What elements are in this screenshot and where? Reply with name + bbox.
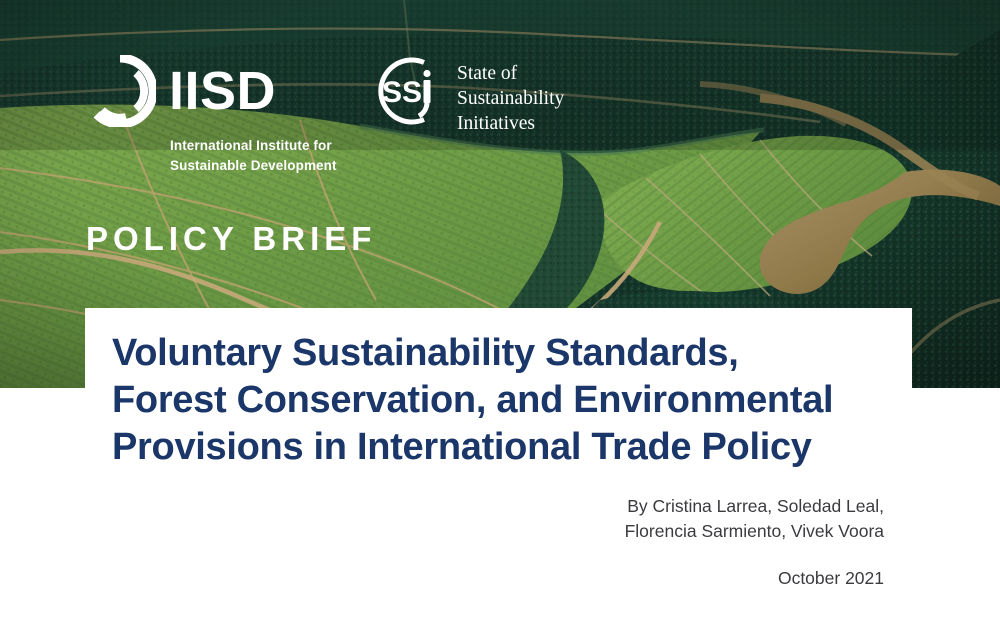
iisd-tagline-line-1: International Institute for [170, 136, 350, 156]
document-kicker: POLICY BRIEF [86, 222, 376, 255]
ssi-circle-mark-icon: SS [372, 54, 446, 128]
byline-line-2: Florencia Sarmiento, Vivek Voora [625, 519, 884, 544]
ssi-name-line-3: Initiatives [457, 112, 564, 137]
byline-block: By Cristina Larrea, Soledad Leal, Floren… [625, 494, 884, 591]
publication-date: October 2021 [625, 566, 884, 591]
ssi-logo: SS State of Sustainability Initiatives [372, 55, 564, 137]
iisd-logo-top: IISD [84, 55, 344, 127]
ssi-name-line-1: State of [457, 62, 564, 87]
svg-text:SS: SS [382, 76, 422, 109]
page-title-line-1: Voluntary Sustainability Standards, [112, 330, 912, 377]
iisd-circle-mark-icon [84, 55, 156, 127]
byline-line-1: By Cristina Larrea, Soledad Leal, [625, 494, 884, 519]
page-title: Voluntary Sustainability Standards, Fore… [112, 330, 912, 471]
policy-brief-cover-page: IISD International Institute for Sustain… [0, 0, 1000, 620]
page-title-line-2: Forest Conservation, and Environmental [112, 377, 912, 424]
iisd-wordmark: IISD [169, 64, 276, 118]
iisd-tagline: International Institute for Sustainable … [170, 136, 350, 175]
iisd-tagline-line-2: Sustainable Development [170, 156, 350, 176]
ssi-name: State of Sustainability Initiatives [457, 62, 564, 137]
page-title-line-3: Provisions in International Trade Policy [112, 424, 912, 471]
iisd-logo: IISD International Institute for Sustain… [84, 55, 344, 175]
logo-row: IISD International Institute for Sustain… [84, 55, 564, 175]
ssi-name-line-2: Sustainability [457, 87, 564, 112]
